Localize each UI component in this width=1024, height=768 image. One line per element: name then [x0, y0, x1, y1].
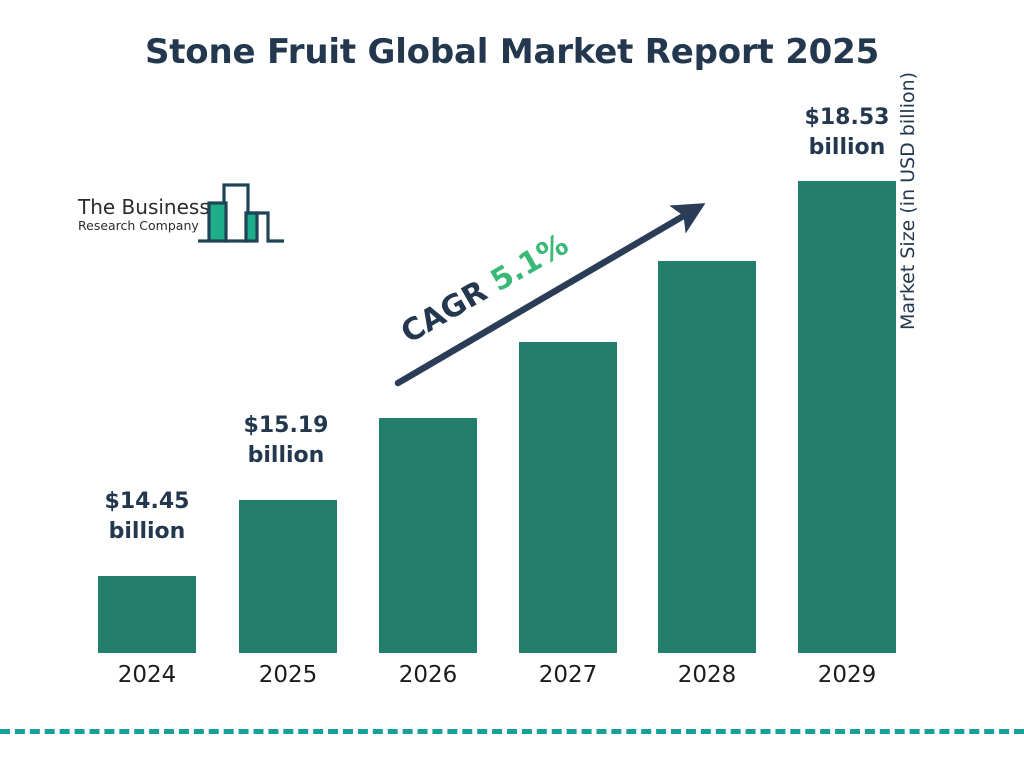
x-tick-2024: 2024: [82, 662, 212, 688]
bar-2027: [519, 342, 617, 653]
bar-value-2029: $18.53 billion: [787, 103, 907, 163]
y-axis-label: Market Size (in USD billion): [897, 0, 919, 330]
bar-value-2025: $15.19 billion: [226, 411, 346, 471]
footer-divider: [0, 729, 1024, 734]
x-tick-2026: 2026: [363, 662, 493, 688]
bar-value-2024: $14.45 billion: [87, 487, 207, 547]
bar-2028: [658, 261, 756, 653]
x-tick-2025: 2025: [223, 662, 353, 688]
x-tick-2029: 2029: [782, 662, 912, 688]
cagr-value: 5.1%: [485, 227, 575, 299]
x-tick-2027: 2027: [503, 662, 633, 688]
bar-value-2024-unit: billion: [87, 517, 207, 547]
bar-value-2024-amount: $14.45: [87, 487, 207, 517]
bar-2029: [798, 181, 896, 653]
bar-2026: [379, 418, 477, 653]
bar-2025: [239, 500, 337, 653]
bar-value-2029-unit: billion: [787, 133, 907, 163]
bar-2024: [98, 576, 196, 653]
bar-chart-plot: $14.45 billion $15.19 billion $18.53 bil…: [0, 0, 1024, 768]
x-tick-2028: 2028: [642, 662, 772, 688]
bar-value-2025-amount: $15.19: [226, 411, 346, 441]
cagr-annotation: CAGR 5.1%: [395, 227, 574, 351]
bar-value-2029-amount: $18.53: [787, 103, 907, 133]
cagr-label: CAGR: [395, 274, 493, 351]
chart-page: Stone Fruit Global Market Report 2025 Th…: [0, 0, 1024, 768]
bar-value-2025-unit: billion: [226, 441, 346, 471]
